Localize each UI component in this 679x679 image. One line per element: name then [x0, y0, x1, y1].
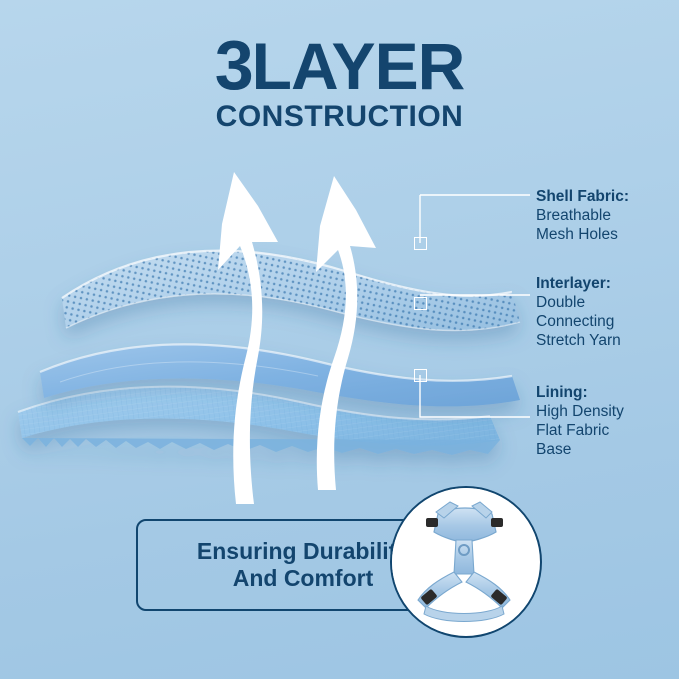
product-photo-circle [390, 486, 542, 638]
callout-interlayer-line-2: Connecting [536, 313, 679, 332]
callout-interlayer: Interlayer: Double Connecting Stretch Ya… [536, 275, 679, 351]
arrow-right-icon [316, 176, 376, 490]
callout-lining-heading: Lining: [536, 384, 679, 403]
callout-shell-fabric: Shell Fabric: Breathable Mesh Holes [536, 188, 679, 245]
callout-lining-line-1: High Density [536, 403, 679, 422]
title-main-line: 3 LAYER [0, 34, 679, 97]
title-word: LAYER [252, 37, 465, 96]
callout-lining: Lining: High Density Flat Fabric Base [536, 384, 679, 460]
callout-lining-line-3: Base [536, 441, 679, 460]
tagline-line-1: Ensuring Durability [197, 538, 409, 564]
marker-lining [414, 369, 427, 382]
marker-interlayer [414, 297, 427, 310]
marker-shell-fabric [414, 237, 427, 250]
arrow-left-icon [218, 172, 278, 504]
callout-interlayer-heading: Interlayer: [536, 275, 679, 294]
page-title: 3 LAYER CONSTRUCTION [0, 34, 679, 134]
callout-interlayer-line-3: Stretch Yarn [536, 332, 679, 351]
callout-interlayer-line-1: Double [536, 294, 679, 313]
dog-harness-icon [392, 488, 536, 632]
title-number: 3 [215, 34, 252, 97]
tagline-line-2: And Comfort [233, 565, 374, 591]
callout-shell-fabric-line-1: Breathable [536, 207, 679, 226]
infographic-canvas: 3 LAYER CONSTRUCTION [0, 0, 679, 679]
airflow-arrows [200, 150, 420, 510]
callout-lining-line-2: Flat Fabric [536, 422, 679, 441]
title-subtitle: CONSTRUCTION [0, 100, 679, 134]
callout-shell-fabric-heading: Shell Fabric: [536, 188, 679, 207]
callout-shell-fabric-line-2: Mesh Holes [536, 226, 679, 245]
